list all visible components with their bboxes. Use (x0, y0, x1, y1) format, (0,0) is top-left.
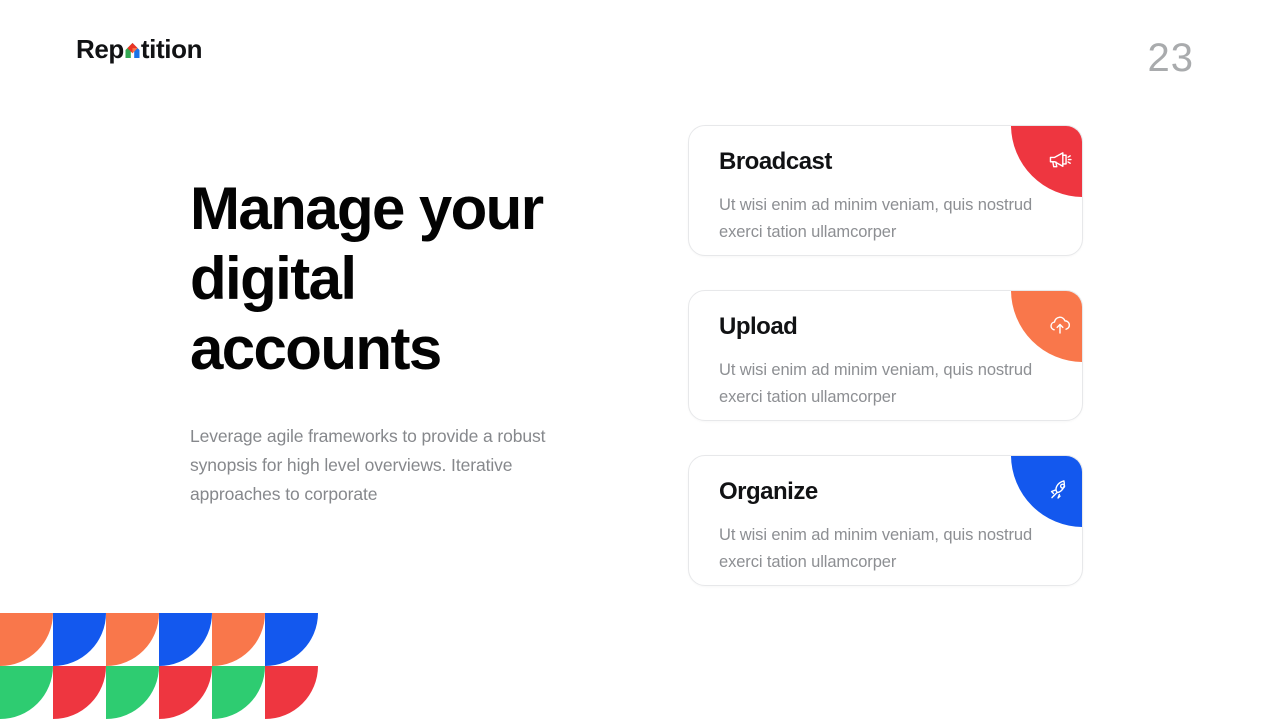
pattern-cell (53, 666, 106, 719)
pattern-cell (0, 613, 53, 666)
card-accent-corner (1011, 455, 1083, 527)
pattern-cell (106, 613, 159, 666)
cloud-upload-icon (1047, 312, 1073, 338)
pattern-cell (159, 666, 212, 719)
pattern-cell (212, 666, 265, 719)
quarter-circle-pattern (0, 613, 318, 720)
feature-card-list: Broadcast Ut wisi enim ad minim veniam, … (688, 125, 1083, 586)
pattern-cell (106, 666, 159, 719)
brand-logo[interactable]: Rep tition (76, 36, 202, 62)
page-number: 23 (1148, 38, 1195, 78)
card-accent-corner (1011, 290, 1083, 362)
pattern-cell (159, 613, 212, 666)
rocket-icon (1047, 477, 1073, 503)
feature-card-organize[interactable]: Organize Ut wisi enim ad minim veniam, q… (688, 455, 1083, 586)
pattern-cell (212, 613, 265, 666)
feature-card-upload[interactable]: Upload Ut wisi enim ad minim veniam, qui… (688, 290, 1083, 421)
megaphone-icon (1047, 147, 1073, 173)
card-description: Ut wisi enim ad minim veniam, quis nostr… (719, 357, 1049, 411)
card-title: Organize (719, 480, 818, 504)
card-title: Broadcast (719, 150, 832, 174)
card-accent-corner (1011, 125, 1083, 197)
pattern-cell (265, 666, 318, 719)
logo-mark-icon (124, 41, 141, 59)
card-description: Ut wisi enim ad minim veniam, quis nostr… (719, 522, 1049, 576)
slide: Rep tition 23 Manage your digital accoun… (0, 0, 1280, 720)
card-description: Ut wisi enim ad minim veniam, quis nostr… (719, 192, 1049, 246)
logo-text-suffix: tition (141, 36, 202, 62)
pattern-cell (265, 613, 318, 666)
card-title: Upload (719, 315, 797, 339)
pattern-cell (0, 666, 53, 719)
page-subcopy: Leverage agile frameworks to provide a r… (190, 422, 565, 509)
page-title: Manage your digital accounts (190, 174, 610, 385)
pattern-cell (53, 613, 106, 666)
feature-card-broadcast[interactable]: Broadcast Ut wisi enim ad minim veniam, … (688, 125, 1083, 256)
logo-text-prefix: Rep (76, 36, 124, 62)
